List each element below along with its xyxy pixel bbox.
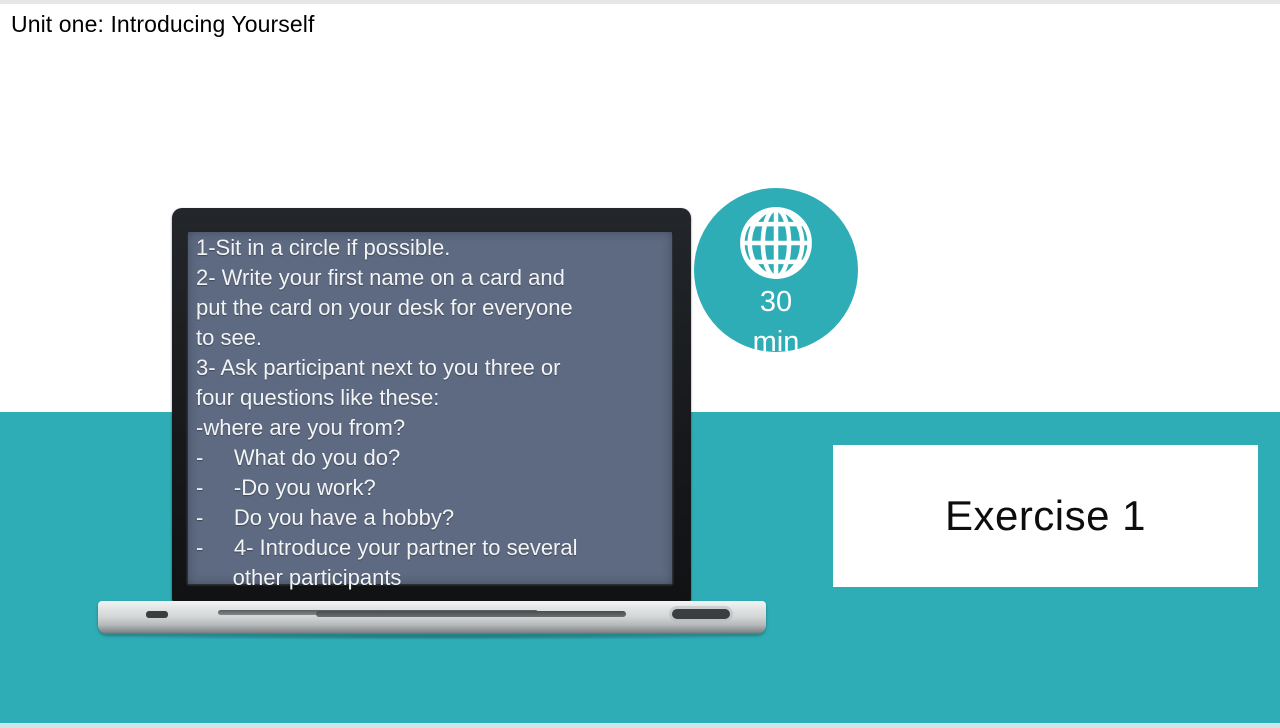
laptop-screen-text: 1-Sit in a circle if possible. 2- Write … — [196, 233, 666, 593]
slide-canvas: Unit one: Introducing Yourself Exercise … — [0, 0, 1280, 728]
screen-line: 1-Sit in a circle if possible. — [196, 233, 666, 263]
window-top-edge — [0, 0, 1280, 4]
screen-line: - -Do you work? — [196, 473, 666, 503]
screen-line: to see. — [196, 323, 666, 353]
window-bottom-edge — [0, 723, 1280, 728]
exercise-card-label: Exercise 1 — [945, 495, 1146, 537]
screen-line: - What do you do? — [196, 443, 666, 473]
laptop-base — [98, 601, 766, 634]
screen-line: other participants — [196, 563, 666, 593]
laptop-base-slot-right — [672, 609, 730, 619]
laptop-screen: 1-Sit in a circle if possible. 2- Write … — [188, 232, 672, 584]
screen-line: four questions like these: — [196, 383, 666, 413]
screen-line: 3- Ask participant next to you three or — [196, 353, 666, 383]
screen-line: -where are you from? — [196, 413, 666, 443]
laptop-base-slot-left — [146, 611, 168, 618]
exercise-card[interactable]: Exercise 1 — [833, 445, 1258, 587]
screen-line: 2- Write your first name on a card and — [196, 263, 666, 293]
page-title: Unit one: Introducing Yourself — [11, 10, 314, 38]
screen-line: - 4- Introduce your partner to several — [196, 533, 666, 563]
laptop-base-shadow — [112, 634, 752, 640]
laptop-base-groove — [316, 611, 626, 617]
screen-line: - Do you have a hobby? — [196, 503, 666, 533]
screen-line: put the card on your desk for everyone — [196, 293, 666, 323]
laptop-illustration: 1-Sit in a circle if possible. 2- Write … — [98, 208, 766, 640]
